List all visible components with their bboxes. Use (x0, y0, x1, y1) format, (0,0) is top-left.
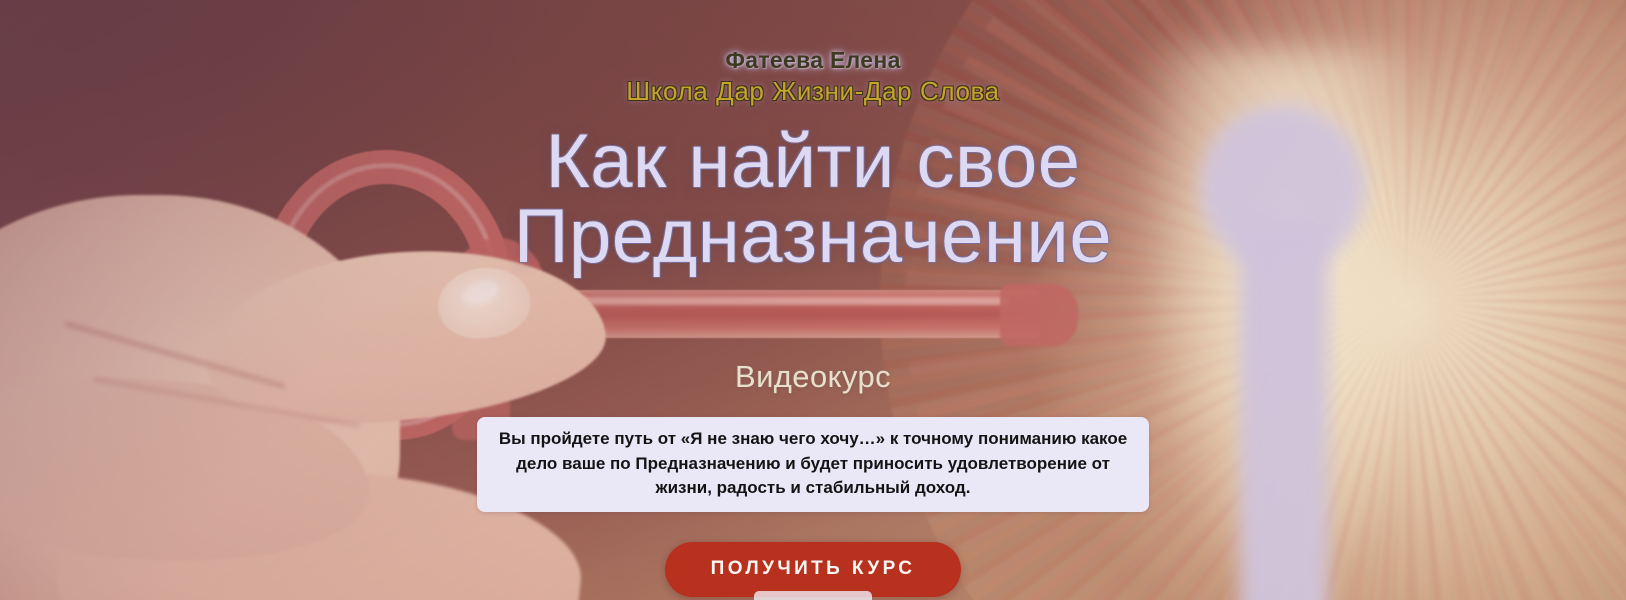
bottom-scroll-indicator (754, 591, 872, 600)
page-title: Как найти свое Предназначение (514, 124, 1112, 274)
page-title-line-1: Как найти свое (514, 124, 1112, 199)
school-name: Школа Дар Жизни-Дар Слова (626, 77, 999, 106)
landing-page-hero: Фатеева Елена Школа Дар Жизни-Дар Слова … (0, 0, 1626, 600)
author-name: Фатеева Елена (725, 48, 900, 73)
get-course-button[interactable]: ПОЛУЧИТЬ КУРС (665, 542, 962, 597)
cta-container: ПОЛУЧИТЬ КУРС (665, 542, 962, 597)
course-format-label: Видеокурс (735, 359, 891, 395)
page-title-line-2: Предназначение (514, 199, 1112, 274)
promise-text-box: Вы пройдете путь от «Я не знаю чего хочу… (477, 417, 1149, 512)
hero-content: Фатеева Елена Школа Дар Жизни-Дар Слова … (0, 0, 1626, 600)
